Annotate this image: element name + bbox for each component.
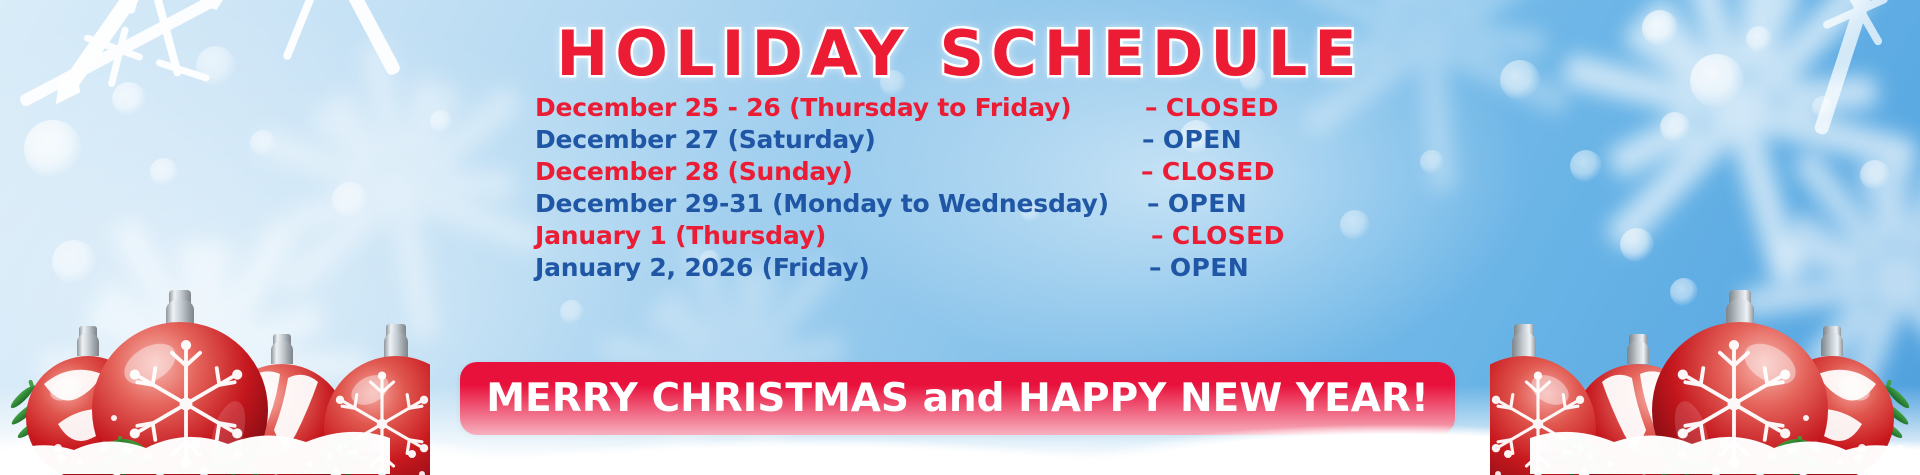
schedule-status: –CLOSED	[1141, 157, 1275, 186]
christmas-ornaments-icon	[1490, 260, 1920, 475]
schedule-status: –OPEN	[1142, 125, 1242, 154]
dash-separator: –	[1141, 157, 1154, 186]
greeting-banner: MERRY CHRISTMAS and HAPPY NEW YEAR!	[460, 362, 1455, 435]
bokeh-dot	[332, 182, 368, 218]
bokeh-dot	[1620, 228, 1654, 262]
schedule-status: –CLOSED	[1145, 93, 1279, 122]
schedule-date: December 28 (Sunday)	[535, 157, 1145, 186]
dash-separator: –	[1151, 221, 1164, 250]
schedule-status: –OPEN	[1147, 189, 1247, 218]
greeting-text: MERRY CHRISTMAS and HAPPY NEW YEAR!	[486, 376, 1429, 421]
dash-separator: –	[1145, 93, 1158, 122]
schedule-date: December 29-31 (Monday to Wednesday)	[535, 189, 1145, 218]
dash-separator: –	[1142, 125, 1155, 154]
holiday-schedule-banner: HOLIDAY SCHEDULE December 25 - 26 (Thurs…	[0, 0, 1920, 475]
schedule-date: December 27 (Saturday)	[535, 125, 1145, 154]
schedule-list: December 25 - 26 (Thursday to Friday) –C…	[535, 93, 1375, 285]
status-badge: OPEN	[1168, 189, 1247, 218]
bokeh-dot	[560, 300, 584, 324]
bokeh-dot	[1420, 150, 1444, 174]
dash-separator: –	[1147, 189, 1160, 218]
status-badge: CLOSED	[1172, 221, 1285, 250]
schedule-date: December 25 - 26 (Thursday to Friday)	[535, 93, 1145, 122]
schedule-date: January 1 (Thursday)	[535, 221, 1145, 250]
schedule-row: January 1 (Thursday) –CLOSED	[535, 221, 1375, 253]
schedule-row: January 2, 2026 (Friday) –OPEN	[535, 253, 1375, 285]
schedule-status: –OPEN	[1149, 253, 1249, 282]
bokeh-dot	[1660, 112, 1690, 142]
schedule-row: December 25 - 26 (Thursday to Friday) –C…	[535, 93, 1375, 125]
schedule-row: December 27 (Saturday) –OPEN	[535, 125, 1375, 157]
status-badge: CLOSED	[1166, 93, 1279, 122]
status-badge: CLOSED	[1162, 157, 1275, 186]
schedule-row: December 29-31 (Monday to Wednesday) –OP…	[535, 189, 1375, 221]
page-title: HOLIDAY SCHEDULE	[0, 17, 1920, 90]
schedule-row: December 28 (Sunday) –CLOSED	[535, 157, 1375, 189]
dash-separator: –	[1149, 253, 1162, 282]
christmas-ornaments-icon	[0, 260, 430, 475]
schedule-status: –CLOSED	[1151, 221, 1285, 250]
bokeh-dot	[1570, 150, 1602, 182]
status-badge: OPEN	[1163, 125, 1242, 154]
schedule-date: January 2, 2026 (Friday)	[535, 253, 1145, 282]
status-badge: OPEN	[1170, 253, 1249, 282]
